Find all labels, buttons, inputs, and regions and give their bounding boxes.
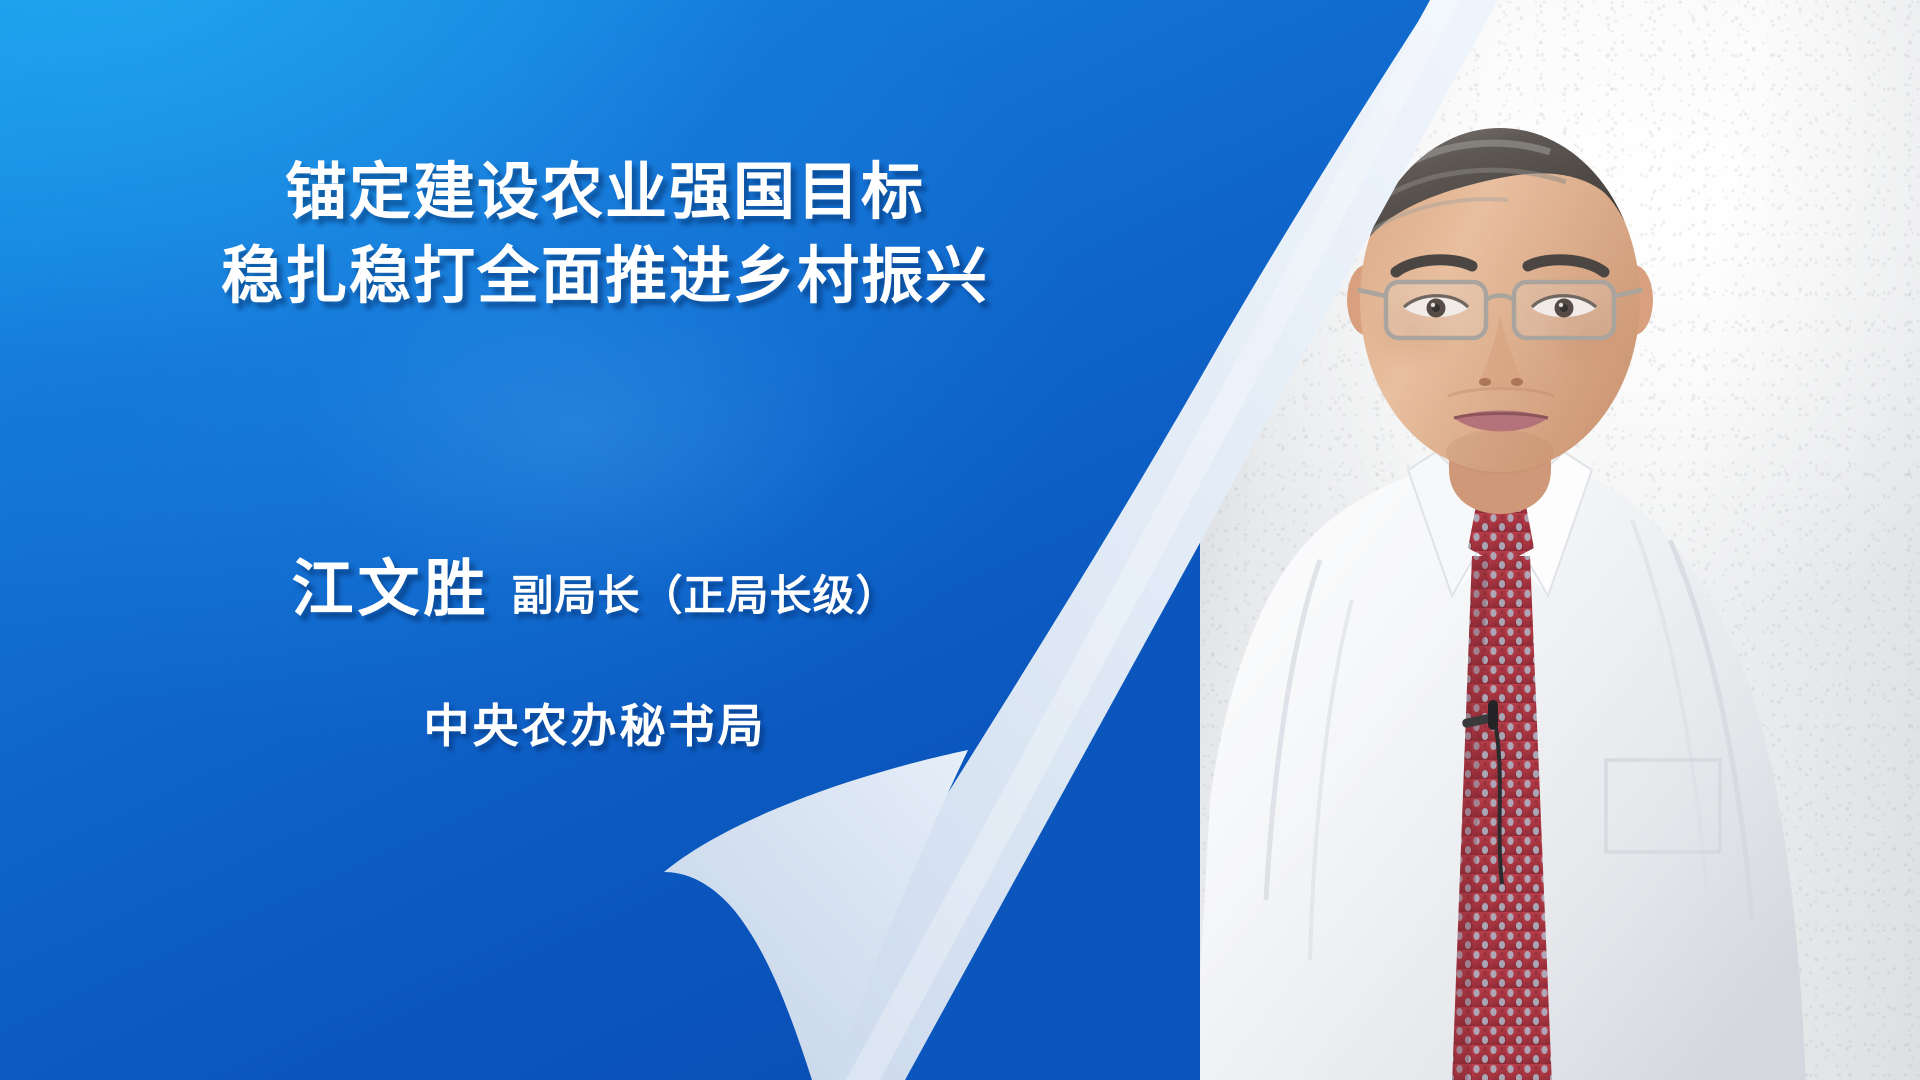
headline-line-1: 锚定建设农业强国目标 [0, 150, 1210, 234]
headline-block: 锚定建设农业强国目标 稳扎稳打全面推进乡村振兴 [0, 150, 1210, 318]
speaker-name-row: 江文胜 副局长（正局长级） [0, 538, 1190, 628]
speaker-head [1351, 112, 1649, 474]
title-card-slide: 锚定建设农业强国目标 稳扎稳打全面推进乡村振兴 江文胜 副局长（正局长级） 中央… [0, 0, 1920, 1080]
speaker-name: 江文胜 [291, 538, 489, 628]
speaker-role: 副局长（正局长级） [512, 562, 899, 623]
speaker-identification-block: 江文胜 副局长（正局长级） 中央农办秘书局 [0, 538, 1190, 756]
speaker-organization: 中央农办秘书局 [0, 690, 1190, 756]
headline-line-2: 稳扎稳打全面推进乡村振兴 [0, 234, 1210, 318]
